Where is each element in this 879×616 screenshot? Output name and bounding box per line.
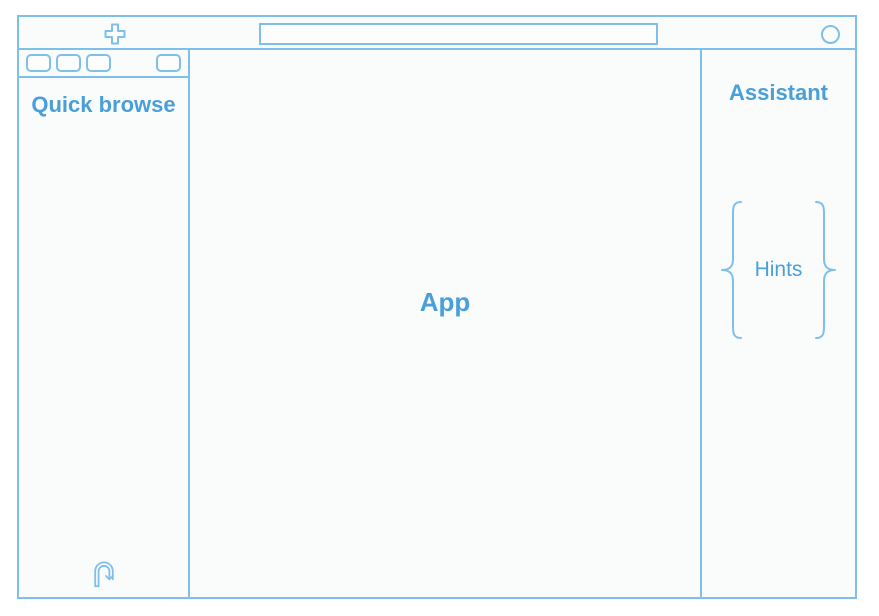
sidebar-tool-1-button[interactable]: [26, 54, 51, 72]
sidebar-tool-3-button[interactable]: [86, 54, 111, 72]
hints-label: Hints: [745, 258, 813, 282]
new-tab-button[interactable]: [97, 21, 133, 47]
assistant-panel: Assistant Hints: [700, 50, 855, 597]
app-label: App: [420, 287, 471, 318]
window-body: Quick browse App Assistant: [19, 50, 855, 597]
account-button[interactable]: [817, 21, 843, 47]
app-window-frame: Quick browse App Assistant: [17, 15, 857, 599]
assistant-title: Assistant: [702, 80, 855, 106]
quick-browse-sidebar: Quick browse: [19, 50, 190, 597]
open-brace-icon: [719, 199, 745, 341]
hints-block: Hints: [710, 195, 847, 345]
sidebar-tool-2-button[interactable]: [56, 54, 81, 72]
plus-icon: [103, 22, 127, 46]
sidebar-footer: [19, 559, 188, 589]
top-bar: [19, 17, 855, 50]
sidebar-tool-4-button[interactable]: [156, 54, 181, 72]
u-turn-arrow-icon[interactable]: [89, 559, 119, 589]
close-brace-icon: [812, 199, 838, 341]
app-content-area[interactable]: App: [190, 50, 700, 597]
address-input[interactable]: [259, 23, 658, 45]
sidebar-toolbar: [19, 50, 188, 78]
circle-avatar-icon: [821, 25, 840, 44]
sidebar-title: Quick browse: [19, 92, 188, 119]
wireframe-canvas: Quick browse App Assistant: [0, 0, 879, 616]
